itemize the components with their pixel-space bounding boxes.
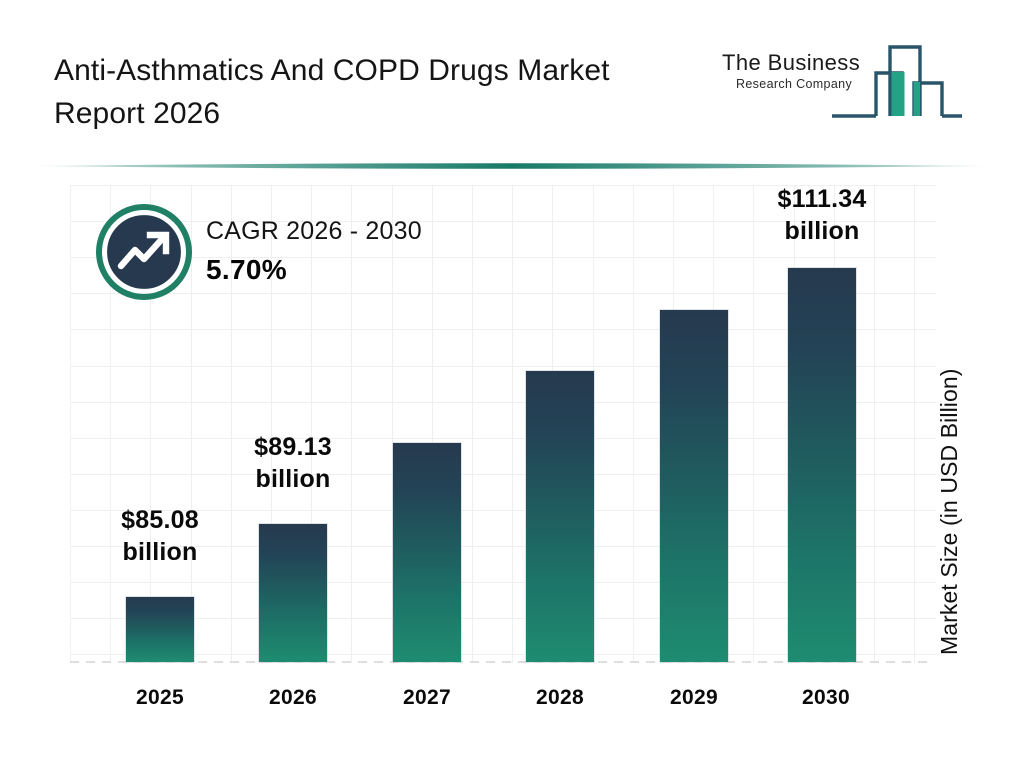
cagr-value-label: 5.70%	[206, 252, 422, 287]
x-axis-label-2028: 2028	[500, 686, 620, 710]
bar-value-amount-2030: $111.34	[742, 184, 902, 216]
bar-chart: $85.08 billion $89.13 billion $111.34 bi…	[0, 0, 1024, 768]
bar-value-label-2025: $85.08 billion	[80, 505, 240, 568]
bar-value-unit-2030: billion	[742, 216, 902, 248]
bar-2030[interactable]	[788, 268, 856, 662]
bar-2026[interactable]	[259, 524, 327, 662]
bar-2029[interactable]	[660, 310, 728, 662]
bar-value-amount-2026: $89.13	[213, 432, 373, 464]
bar-value-unit-2025: billion	[80, 537, 240, 569]
x-axis-label-2025: 2025	[100, 686, 220, 710]
bar-value-label-2030: $111.34 billion	[742, 184, 902, 247]
cagr-badge: CAGR 2026 - 2030 5.70%	[96, 204, 496, 304]
x-axis-label-2029: 2029	[634, 686, 754, 710]
cagr-period-label: CAGR 2026 - 2030	[206, 216, 422, 246]
bar-value-amount-2025: $85.08	[80, 505, 240, 537]
cagr-text-block: CAGR 2026 - 2030 5.70%	[206, 216, 422, 287]
bar-value-label-2026: $89.13 billion	[213, 432, 373, 495]
y-axis-title: Market Size (in USD Billion)	[936, 368, 963, 655]
x-axis-label-2026: 2026	[233, 686, 353, 710]
x-axis-label-2030: 2030	[766, 686, 886, 710]
chart-page: Anti-Asthmatics And COPD Drugs Market Re…	[0, 0, 1024, 768]
bar-2027[interactable]	[393, 443, 461, 662]
trending-up-icon	[96, 204, 192, 300]
bar-2025[interactable]	[126, 597, 194, 662]
bar-value-unit-2026: billion	[213, 464, 373, 496]
bar-2028[interactable]	[526, 371, 594, 662]
x-axis-label-2027: 2027	[367, 686, 487, 710]
